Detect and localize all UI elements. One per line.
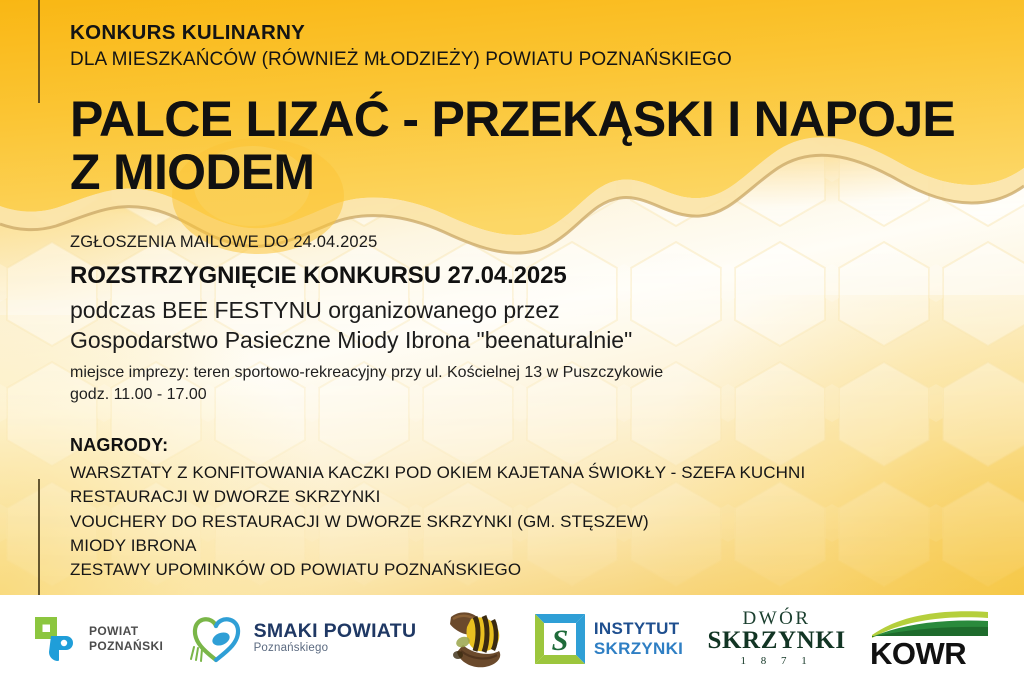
page-title: PALCE LIZAĆ - PRZEKĄSKI I NAPOJE Z MIODE… — [70, 93, 1000, 199]
logo-dwor-skrzynki: DWÓR SKRZYNKI 1 8 7 1 — [707, 609, 845, 669]
logo-powiat-line-1: POWIAT — [89, 624, 163, 638]
event-venue-hours: godz. 11.00 - 17.00 — [70, 384, 1000, 407]
poster-root: KONKURS KULINARNY DLA MIESZKAŃCÓW (RÓWNI… — [0, 0, 1024, 682]
logo-bee-illustration — [441, 609, 511, 669]
event-host-line-1: podczas BEE FESTYNU organizowanego przez — [70, 297, 560, 323]
contest-subkicker: DLA MIESZKAŃCÓW (RÓWNIEŻ MŁODZIEŻY) POWI… — [70, 48, 1000, 72]
logo-smaki-powiatu: SMAKI POWIATU Poznańskiego — [188, 609, 417, 669]
prizes-list: WARSZTATY Z KONFITOWANIA KACZKI POD OKIE… — [70, 461, 1000, 582]
logo-instytut-line-2: SKRZYNKI — [594, 639, 683, 658]
logo-kowr-text: KOWR — [870, 640, 966, 669]
logo-powiat-poznanski: POWIAT POZNAŃSKI — [34, 609, 163, 669]
contest-kicker: KONKURS KULINARNY — [70, 20, 1000, 46]
submission-deadline: ZGŁOSZENIA MAILOWE DO 24.04.2025 — [70, 233, 1000, 252]
event-venue-address: miejsce imprezy: teren sportowo-rekreacy… — [70, 364, 663, 381]
logo-dwor-line-2: SKRZYNKI — [707, 628, 845, 654]
accent-rule-bottom — [38, 479, 40, 595]
page-title-line-2: Z MIODEM — [70, 146, 1000, 199]
powiat-poznanski-mark-icon — [34, 616, 80, 662]
event-host: podczas BEE FESTYNU organizowanego przez… — [70, 295, 1000, 356]
poster-content: KONKURS KULINARNY DLA MIESZKAŃCÓW (RÓWNI… — [70, 0, 1000, 619]
logo-smaki-powiatu-text: SMAKI POWIATU Poznańskiego — [254, 621, 417, 656]
prizes-heading: NAGRODY: — [70, 435, 1000, 456]
sponsor-logo-bar: POWIAT POZNAŃSKI SMAKI POWIATU Poznański… — [0, 595, 1024, 682]
logo-powiat-line-2: POZNAŃSKI — [89, 639, 163, 653]
bee-illustration-icon — [441, 605, 511, 673]
list-item: RESTAURACJI W DWORZE SKRZYNKI — [70, 485, 1000, 509]
logo-powiat-poznanski-text: POWIAT POZNAŃSKI — [89, 624, 163, 652]
page-title-line-1: PALCE LIZAĆ - PRZEKĄSKI I NAPOJE — [70, 91, 955, 147]
logo-instytut-skrzynki: S INSTYTUT SKRZYNKI — [535, 609, 683, 669]
list-item: WARSZTATY Z KONFITOWANIA KACZKI POD OKIE… — [70, 461, 1000, 485]
logo-smaki-line-1: SMAKI POWIATU — [254, 621, 417, 642]
event-venue: miejsce imprezy: teren sportowo-rekreacy… — [70, 362, 1000, 407]
logo-dwor-line-3: 1 8 7 1 — [740, 654, 812, 668]
logo-instytut-line-1: INSTYTUT — [594, 619, 683, 638]
results-date: ROZSTRZYGNIĘCIE KONKURSU 27.04.2025 — [70, 262, 1000, 290]
logo-smaki-line-2: Poznańskiego — [254, 642, 417, 656]
logo-kowr: KOWR — [870, 609, 990, 669]
list-item: MIODY IBRONA — [70, 534, 1000, 558]
svg-text:S: S — [552, 624, 569, 657]
kowr-field-mark-icon — [870, 609, 990, 639]
accent-rule-top — [38, 0, 40, 103]
logo-instytut-skrzynki-text: INSTYTUT SKRZYNKI — [594, 619, 683, 657]
list-item: VOUCHERY DO RESTAURACJI W DWORZE SKRZYNK… — [70, 510, 1000, 534]
logo-dwor-line-1: DWÓR — [743, 609, 811, 628]
list-item: ZESTAWY UPOMINKÓW OD POWIATU POZNAŃSKIEG… — [70, 558, 1000, 582]
event-host-line-2: Gospodarstwo Pasieczne Miody Ibrona "bee… — [70, 325, 1000, 356]
instytut-skrzynki-s-mark-icon: S — [535, 614, 585, 664]
fork-spoon-heart-icon — [188, 613, 244, 665]
